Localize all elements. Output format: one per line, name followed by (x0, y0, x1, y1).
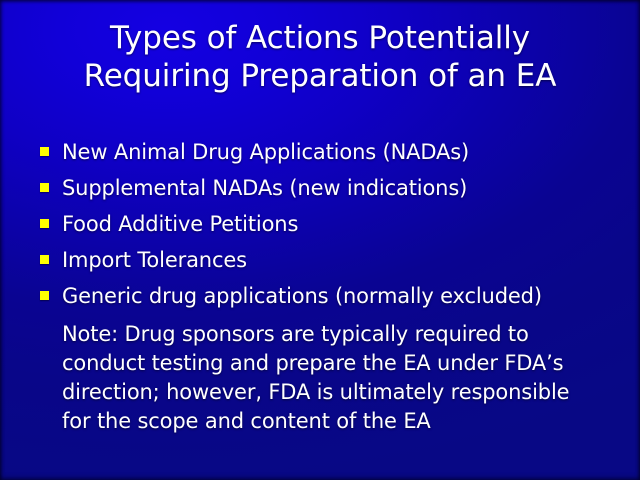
slide-note-line-1: Note: Drug sponsors are typically requir… (62, 320, 622, 349)
square-bullet-icon (40, 255, 49, 264)
slide-body: New Animal Drug Applications (NADAs) Sup… (0, 134, 640, 436)
slide-note-paragraph: Note: Drug sponsors are typically requir… (0, 320, 640, 436)
square-bullet-icon (40, 183, 49, 192)
bullet-list-item: Food Additive Petitions (0, 206, 640, 242)
bullet-list-item: Import Tolerances (0, 242, 640, 278)
bullet-list-item: Supplemental NADAs (new indications) (0, 170, 640, 206)
bullet-list-item-label: New Animal Drug Applications (NADAs) (62, 140, 469, 164)
bullet-list-item-label: Generic drug applications (normally excl… (62, 284, 542, 308)
bullet-list-item-label: Supplemental NADAs (new indications) (62, 176, 467, 200)
slide-title-line-2: Requiring Preparation of an EA (0, 57, 640, 95)
bullet-list-item: New Animal Drug Applications (NADAs) (0, 134, 640, 170)
square-bullet-icon (40, 147, 49, 156)
square-bullet-icon (40, 219, 49, 228)
square-bullet-icon (40, 291, 49, 300)
presentation-slide: Types of Actions Potentially Requiring P… (0, 0, 640, 480)
slide-title-line-1: Types of Actions Potentially (0, 19, 640, 57)
slide-note-line-4: for the scope and content of the EA (62, 407, 622, 436)
bullet-list-item: Generic drug applications (normally excl… (0, 278, 640, 314)
bullet-list-item-label: Food Additive Petitions (62, 212, 298, 236)
slide-note-line-3: direction; however, FDA is ultimately re… (62, 378, 622, 407)
bullet-list-item-label: Import Tolerances (62, 248, 247, 272)
slide-note-line-2: conduct testing and prepare the EA under… (62, 349, 622, 378)
slide-title: Types of Actions Potentially Requiring P… (0, 19, 640, 95)
